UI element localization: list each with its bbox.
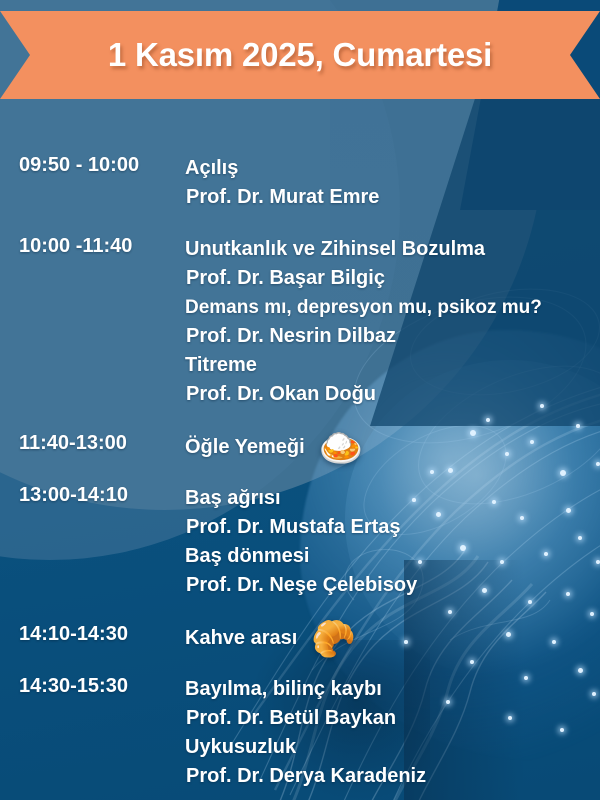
lunch-plate-icon: 🍛 (319, 433, 364, 463)
schedule-row-time: 09:50 - 10:00 (19, 154, 139, 177)
schedule-topic: Uykusuzluk (185, 733, 597, 762)
schedule-topic: Bayılma, bilinç kaybı (185, 675, 597, 704)
schedule-row-time: 14:10-14:30 (19, 623, 128, 646)
schedule-row-time: 13:00-14:10 (19, 484, 128, 507)
schedule-speaker: Prof. Dr. Betül Baykan (185, 704, 597, 733)
schedule-speaker: Prof. Dr. Derya Karadeniz (185, 762, 597, 791)
schedule-speaker: Prof. Dr. Başar Bilgiç (185, 264, 597, 293)
schedule-topic: Baş dönmesi (185, 542, 597, 571)
coffee-break-icon: 🥐 (311, 624, 356, 654)
schedule-topic: Baş ağrısı (185, 484, 597, 513)
schedule-topic: Demans mı, depresyon mu, psikoz mu? (185, 293, 597, 322)
schedule-row-entries: Bayılma, bilinç kaybıProf. Dr. Betül Bay… (185, 675, 597, 791)
schedule-topic: Titreme (185, 351, 597, 380)
schedule-speaker: Prof. Dr. Neşe Çelebisoy (185, 571, 597, 600)
schedule-row-time: 14:30-15:30 (19, 675, 128, 698)
schedule-row-entries: Öğle Yemeği🍛 (185, 432, 597, 462)
schedule-topic: Öğle Yemeği (185, 433, 305, 462)
schedule-speaker: Prof. Dr. Murat Emre (185, 183, 597, 212)
schedule-row-entries: Baş ağrısıProf. Dr. Mustafa ErtaşBaş dön… (185, 484, 597, 600)
schedule-row-time: 11:40-13:00 (19, 432, 127, 455)
schedule-speaker: Prof. Dr. Nesrin Dilbaz (185, 322, 597, 351)
schedule-topic: Unutkanlık ve Zihinsel Bozulma (185, 235, 597, 264)
schedule-row-entries: Kahve arası🥐 (185, 623, 597, 653)
schedule-speaker: Prof. Dr. Okan Doğu (185, 380, 597, 409)
schedule-topic: Açılış (185, 154, 597, 183)
schedule-row-entries: AçılışProf. Dr. Murat Emre (185, 154, 597, 212)
schedule-row-entries: Unutkanlık ve Zihinsel BozulmaProf. Dr. … (185, 235, 597, 409)
schedule-row-time: 10:00 -11:40 (19, 235, 132, 258)
schedule-speaker: Prof. Dr. Mustafa Ertaş (185, 513, 597, 542)
schedule-topic: Kahve arası (185, 624, 297, 653)
program-poster: 1 Kasım 2025, Cumartesi 09:50 - 10:00Açı… (0, 0, 600, 800)
schedule-list: 09:50 - 10:00AçılışProf. Dr. Murat Emre1… (0, 0, 600, 800)
